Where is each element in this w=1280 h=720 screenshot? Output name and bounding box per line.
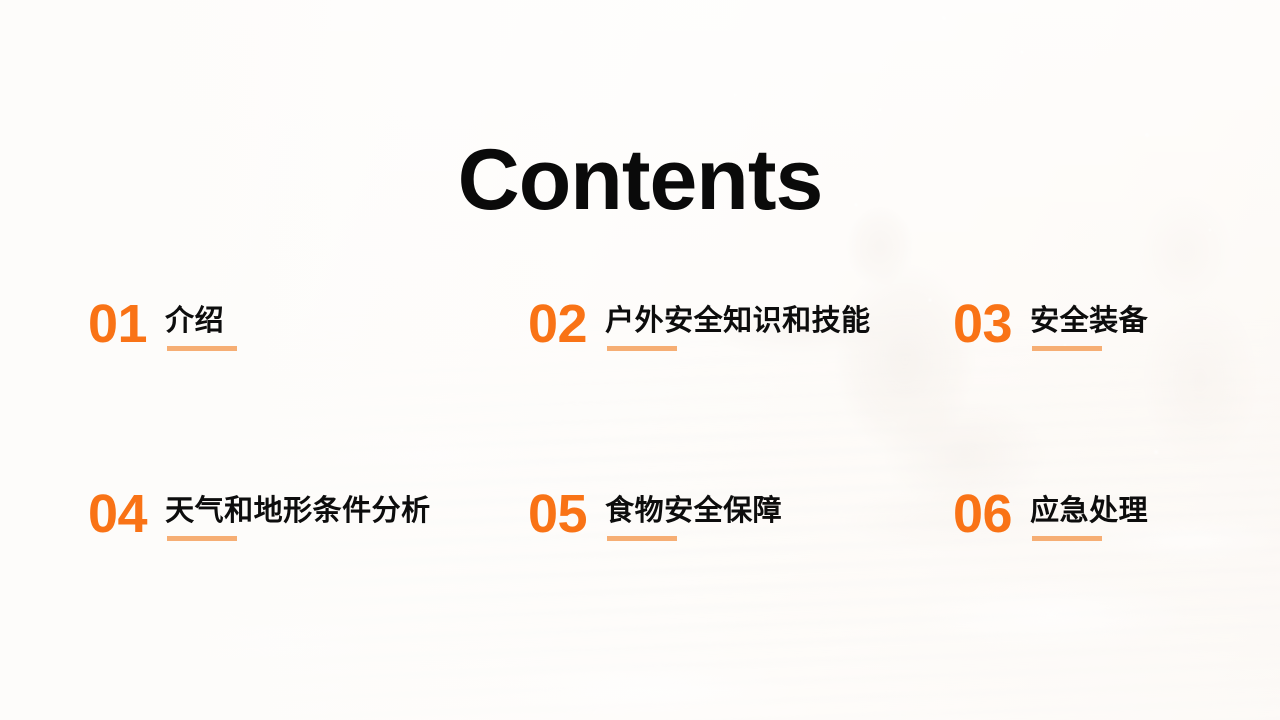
toc-row: 04 天气和地形条件分析 05 食物安全保障 06 xyxy=(0,486,1280,676)
toc-label-wrap: 安全装备 xyxy=(1030,296,1148,340)
toc-number: 01 xyxy=(88,296,147,352)
toc-number: 02 xyxy=(528,296,587,352)
toc-item-05[interactable]: 05 食物安全保障 xyxy=(528,486,782,542)
toc-label: 食物安全保障 xyxy=(605,495,782,527)
table-of-contents: 01 介绍 02 户外安全知识和技能 03 安全装 xyxy=(0,296,1280,676)
toc-underline xyxy=(607,536,677,541)
toc-label: 安全装备 xyxy=(1030,305,1148,337)
toc-label: 介绍 xyxy=(165,305,224,337)
toc-number: 04 xyxy=(88,486,147,542)
toc-underline xyxy=(1032,346,1102,351)
page-title: Contents xyxy=(0,137,1280,223)
toc-number: 03 xyxy=(953,296,1012,352)
toc-label-wrap: 天气和地形条件分析 xyxy=(165,486,431,530)
toc-underline xyxy=(167,536,237,541)
toc-underline xyxy=(607,346,677,351)
toc-label: 天气和地形条件分析 xyxy=(165,495,431,527)
toc-label-wrap: 户外安全知识和技能 xyxy=(605,296,871,340)
toc-item-04[interactable]: 04 天气和地形条件分析 xyxy=(88,486,431,542)
toc-item-06[interactable]: 06 应急处理 xyxy=(953,486,1148,542)
toc-label-wrap: 应急处理 xyxy=(1030,486,1148,530)
toc-underline xyxy=(1032,536,1102,541)
toc-item-01[interactable]: 01 介绍 xyxy=(88,296,224,352)
presentation-slide: Contents 01 介绍 02 户外安全知识和技能 xyxy=(0,0,1280,720)
toc-label: 应急处理 xyxy=(1030,495,1148,527)
toc-item-03[interactable]: 03 安全装备 xyxy=(953,296,1148,352)
toc-number: 05 xyxy=(528,486,587,542)
toc-label-wrap: 食物安全保障 xyxy=(605,486,782,530)
toc-number: 06 xyxy=(953,486,1012,542)
toc-row: 01 介绍 02 户外安全知识和技能 03 安全装 xyxy=(0,296,1280,486)
toc-underline xyxy=(167,346,237,351)
toc-label-wrap: 介绍 xyxy=(165,296,224,340)
toc-item-02[interactable]: 02 户外安全知识和技能 xyxy=(528,296,871,352)
toc-label: 户外安全知识和技能 xyxy=(605,305,871,337)
